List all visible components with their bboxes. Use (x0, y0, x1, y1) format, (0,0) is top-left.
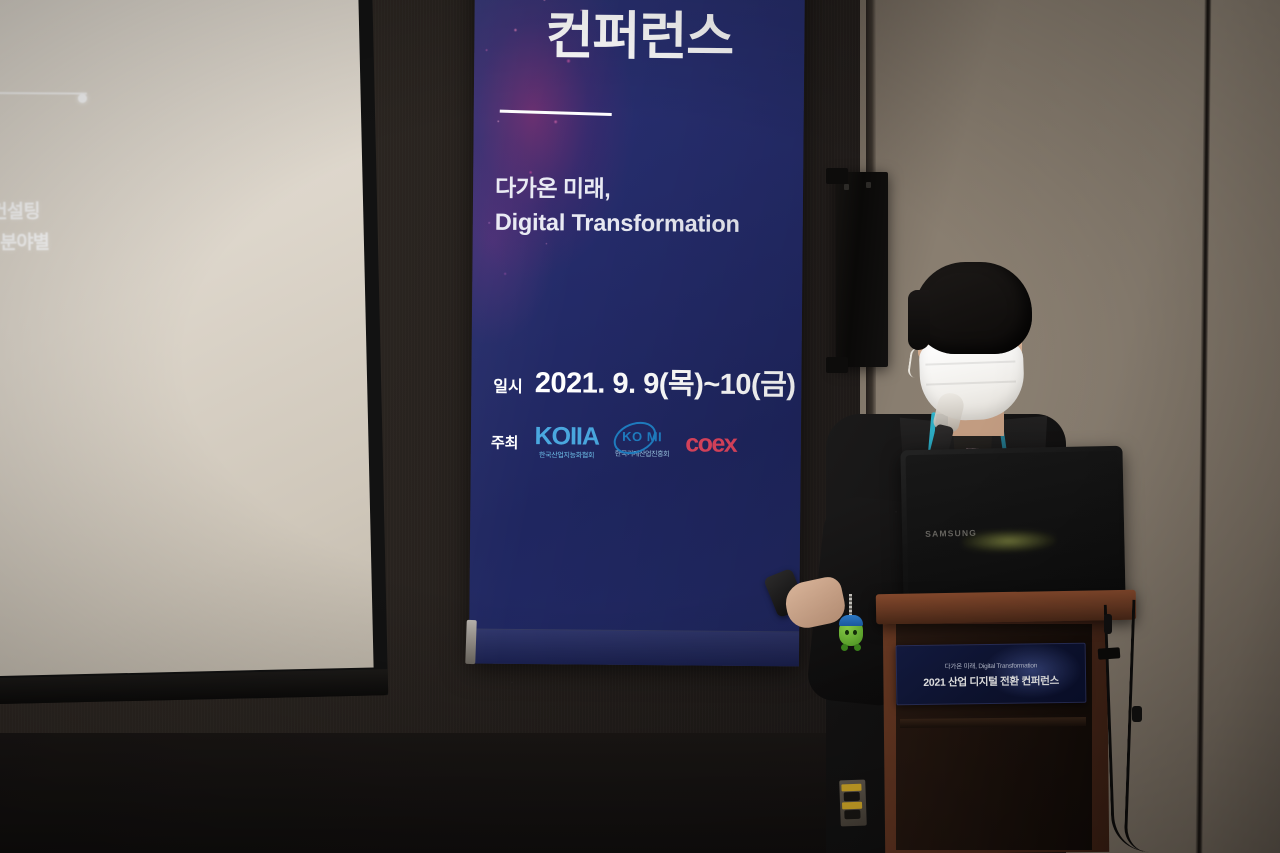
cable-ferrite-bead (1104, 614, 1112, 634)
outlet-label-icon (841, 784, 861, 792)
koiia-wordmark: KOIIA (534, 424, 599, 450)
banner-date-label: 일시 (493, 373, 523, 397)
screen-surface: 품질관리 컨설팅 업전문교육 차 과제 품질점검 및 컨설팅 사업 품질관리 컨… (0, 0, 374, 677)
banner-date: 일시 2021. 9. 9(목)~10(금) (493, 359, 795, 404)
monitor-screen: SAMSUNG (906, 451, 1121, 597)
komi-wordmark: KO MI (616, 427, 668, 447)
cable-clip (1098, 647, 1121, 660)
keychain-foot-right (854, 644, 861, 651)
koiia-logo: KOIIA 한국산업지능화협회 (534, 424, 599, 461)
podium-desktop (876, 590, 1136, 625)
outlet-socket (844, 810, 860, 820)
komi-logo: KO MI 한국기계산업진흥회 (615, 427, 670, 459)
banner-subtitle: 다가온 미래, Digital Transformation (495, 169, 786, 239)
slide-divider-line (0, 91, 87, 95)
banner-title: 전환 컨퍼런스 (474, 0, 805, 69)
banner-subtitle-kr: 다가온 미래, (495, 169, 785, 206)
floor (0, 733, 880, 853)
projection-screen: 품질관리 컨설팅 업전문교육 차 과제 품질점검 및 컨설팅 사업 품질관리 컨… (0, 0, 388, 705)
banner-date-value: 2021. 9. 9(목)~10(금) (535, 359, 796, 403)
cable-connector (1132, 706, 1142, 722)
podium-sign: 다가온 미래, Digital Transformation 2021 산업 디… (896, 643, 1087, 706)
slide-list: 차 과제 품질점검 및 컨설팅 사업 품질관리 컨설팅 품질관리 컨설팅 섹소브… (0, 96, 368, 386)
banner-title-line-2: 컨퍼런스 (474, 5, 805, 70)
koiia-subtext: 한국산업지능화협회 (539, 450, 594, 460)
rollup-banner: 전환 컨퍼런스 다가온 미래, Digital Transformation 일… (469, 0, 805, 666)
list-item: 질관리 컨설팅 및 멘토링 (0, 348, 368, 386)
slide-content: 품질관리 컨설팅 업전문교육 차 과제 품질점검 및 컨설팅 사업 품질관리 컨… (0, 0, 374, 675)
keychain-foot-left (841, 644, 848, 651)
character-keychain (838, 594, 864, 656)
keychain-eye-right (853, 630, 857, 635)
banner-host-label: 주최 (491, 431, 519, 452)
outlet-socket (844, 792, 860, 802)
keychain-eye-left (845, 630, 849, 635)
outlet-label-icon (842, 802, 862, 810)
coex-logo: coex (685, 429, 736, 458)
banner-bottom-hem (469, 629, 799, 667)
keychain-character-hat (839, 615, 863, 626)
samsung-monitor: SAMSUNG (900, 446, 1125, 603)
wall-outlet-panel (839, 780, 867, 827)
conference-photo-scene: 품질관리 컨설팅 업전문교육 차 과제 품질점검 및 컨설팅 사업 품질관리 컨… (0, 0, 1280, 853)
banner-stand-foot (465, 620, 477, 664)
hair (914, 262, 1032, 354)
podium-sign-line-1: 다가온 미래, Digital Transformation (945, 659, 1038, 670)
banner-host-row: 주최 KOIIA 한국산업지능화협회 KO MI 한국기계산업진흥회 coex (491, 424, 789, 463)
podium-sign-line-2: 2021 산업 디지털 전환 컨퍼런스 (923, 673, 1059, 690)
monitor-brand-label: SAMSUNG (925, 528, 977, 539)
speaker-screw-icon (844, 184, 849, 190)
speaker-screw-icon (866, 182, 871, 188)
banner-subtitle-en: Digital Transformation (495, 209, 785, 239)
slide-header: 품질관리 컨설팅 업전문교육 (0, 0, 366, 29)
slide-header-line-2: 업전문교육 (0, 0, 366, 29)
